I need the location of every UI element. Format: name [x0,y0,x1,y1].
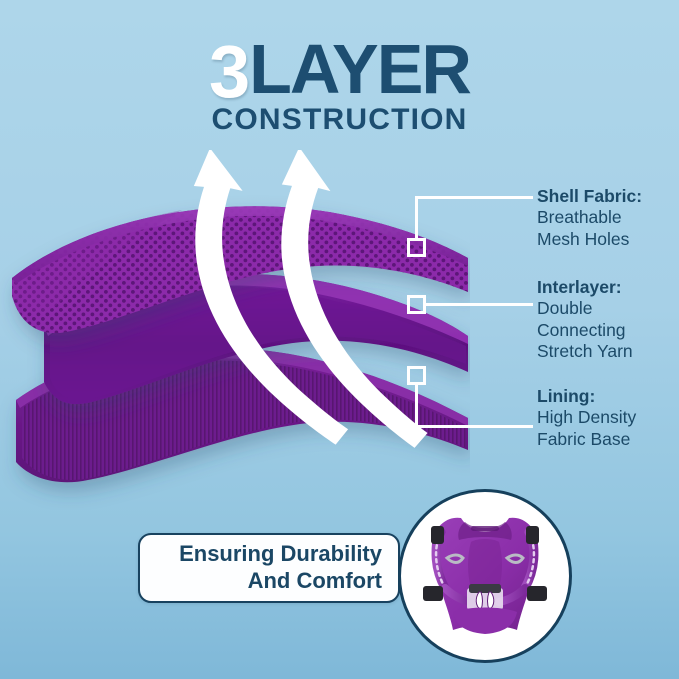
fabric-layer-stack [0,150,470,510]
harness-front-clip [467,584,503,610]
callout-leader-lining-horizontal [415,425,533,428]
callout-title-shell-fabric: Shell Fabric: [537,186,642,207]
callout-line-interlayer-3: Stretch Yarn [537,341,633,362]
callout-marker-shell-fabric[interactable] [407,238,426,257]
callout-title-lining: Lining: [537,386,636,407]
callout-line-shell-2: Mesh Holes [537,229,642,250]
harness-belly-band [453,608,517,635]
page-title: 3LAYER CONSTRUCTION [0,34,679,135]
callout-leader-interlayer-horizontal [426,303,533,306]
callout-line-interlayer-1: Double [537,298,633,319]
tagline-banner: Ensuring Durability And Comfort [138,533,400,603]
callout-leader-shell-horizontal [415,196,533,199]
title-word: LAYER [249,30,470,108]
title-main-line: 3LAYER [0,34,679,109]
callout-marker-lining[interactable] [407,366,426,385]
callout-leader-shell-vertical [415,196,418,240]
callout-line-shell-1: Breathable [537,207,642,228]
title-subtitle: CONSTRUCTION [0,105,679,135]
callout-line-lining-1: High Density [537,407,636,428]
callout-title-interlayer: Interlayer: [537,277,633,298]
callout-leader-lining-vertical [415,385,418,428]
product-image-circle [398,489,572,663]
infographic-canvas: 3LAYER CONSTRUCTION [0,0,679,679]
tagline-text: Ensuring Durability And Comfort [179,541,382,595]
callout-line-lining-2: Fabric Base [537,429,636,450]
callout-line-interlayer-2: Connecting [537,320,633,341]
title-number: 3 [209,30,249,113]
callout-text-interlayer: Interlayer: Double Connecting Stretch Ya… [537,277,633,362]
tagline-line-1: Ensuring Durability [179,541,382,568]
callout-text-lining: Lining: High Density Fabric Base [537,386,636,450]
tagline-line-2: And Comfort [179,568,382,595]
callout-marker-interlayer[interactable] [407,295,426,314]
callout-text-shell-fabric: Shell Fabric: Breathable Mesh Holes [537,186,642,250]
